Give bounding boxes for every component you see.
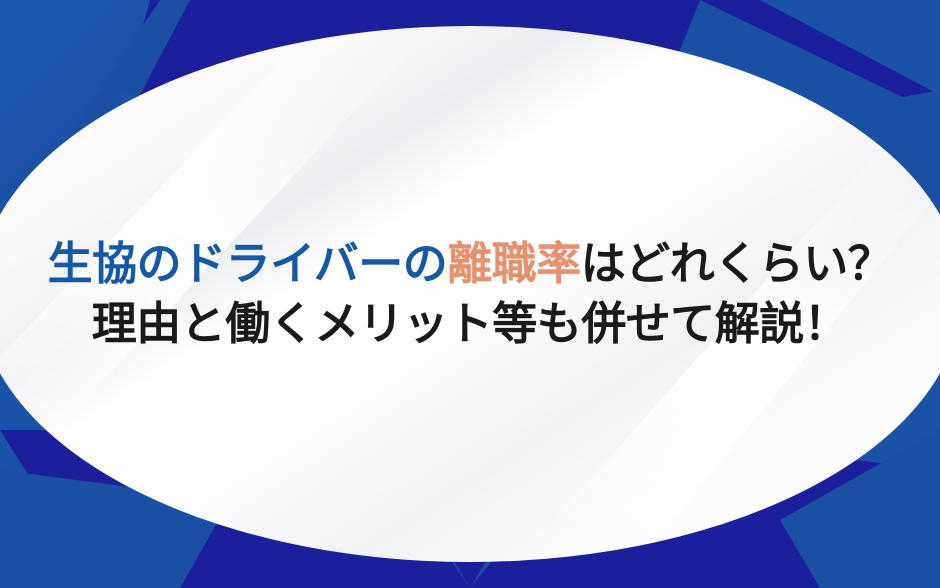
eyecatch-canvas: 生協のドライバーの離職率はどれくらい？ 理由と働くメリット等も併せて解説！ (0, 0, 940, 588)
white-ellipse-plate (0, 0, 940, 588)
